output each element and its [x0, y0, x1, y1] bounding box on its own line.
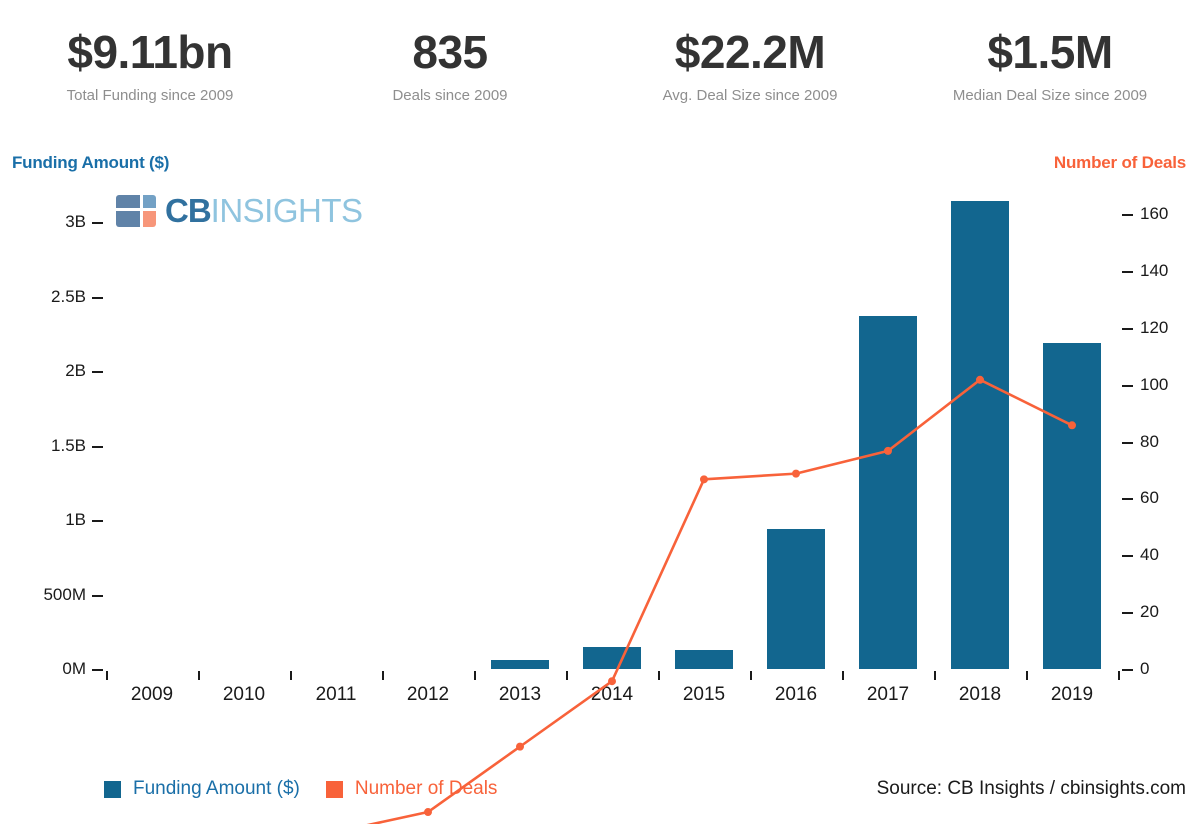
- left-axis-title: Funding Amount ($): [12, 153, 169, 173]
- left-axis-tick: [92, 669, 103, 671]
- x-axis-tick-label: 2012: [407, 684, 449, 706]
- left-axis-tick: [92, 520, 103, 522]
- right-axis-tick: [1122, 555, 1133, 557]
- x-axis-tick-label: 2015: [683, 684, 725, 706]
- right-axis-tick: [1122, 385, 1133, 387]
- x-axis-tick: [566, 671, 568, 680]
- right-axis-tick-label: 60: [1140, 488, 1159, 508]
- x-axis-tick: [934, 671, 936, 680]
- kpi-label: Median Deal Size since 2009: [900, 87, 1200, 104]
- kpi-value: 835: [300, 28, 600, 76]
- legend-item-funding[interactable]: Funding Amount ($): [104, 778, 300, 800]
- right-axis-tick: [1122, 328, 1133, 330]
- bar-2017[interactable]: [859, 316, 916, 669]
- left-axis-tick: [92, 297, 103, 299]
- left-axis-tick-label: 1B: [0, 510, 86, 530]
- kpi-avg-deal-size: $22.2M Avg. Deal Size since 2009: [600, 28, 900, 104]
- right-axis-tick: [1122, 271, 1133, 273]
- x-axis-tick-label: 2013: [499, 684, 541, 706]
- bar-2016[interactable]: [767, 529, 824, 669]
- left-axis-tick-label: 0M: [0, 659, 86, 679]
- kpi-label: Total Funding since 2009: [0, 87, 300, 104]
- left-axis-tick: [92, 446, 103, 448]
- left-axis-tick-label: 3B: [0, 212, 86, 232]
- left-axis-tick: [92, 222, 103, 224]
- chart-legend: Funding Amount ($) Number of Deals: [104, 778, 523, 800]
- kpi-value: $22.2M: [600, 28, 900, 76]
- deals-line: [152, 380, 1072, 824]
- x-axis-tick-label: 2011: [316, 684, 357, 706]
- kpi-total-funding: $9.11bn Total Funding since 2009: [0, 28, 300, 104]
- left-axis-tick-label: 1.5B: [0, 436, 86, 456]
- x-axis-tick-label: 2019: [1051, 684, 1093, 706]
- x-axis-tick-label: 2018: [959, 684, 1001, 706]
- right-axis-tick-label: 120: [1140, 318, 1168, 338]
- x-axis-tick: [198, 671, 200, 680]
- right-axis-tick-label: 40: [1140, 545, 1159, 565]
- kpi-median-deal-size: $1.5M Median Deal Size since 2009: [900, 28, 1200, 104]
- kpi-value: $1.5M: [900, 28, 1200, 76]
- x-axis-tick-label: 2017: [867, 684, 909, 706]
- bar-2019[interactable]: [1043, 343, 1100, 669]
- x-axis-tick-label: 2016: [775, 684, 817, 706]
- deals-point-2015[interactable]: [700, 475, 708, 483]
- x-axis-tick: [750, 671, 752, 680]
- legend-label: Number of Deals: [355, 778, 498, 800]
- left-axis-tick-label: 2B: [0, 361, 86, 381]
- bar-2015[interactable]: [675, 650, 732, 669]
- x-axis-tick: [290, 671, 292, 680]
- right-axis-title: Number of Deals: [1054, 153, 1186, 173]
- right-axis-tick: [1122, 669, 1133, 671]
- right-axis-tick: [1122, 498, 1133, 500]
- right-axis-tick-label: 80: [1140, 432, 1159, 452]
- legend-swatch-orange-icon: [326, 781, 343, 798]
- kpi-deals: 835 Deals since 2009: [300, 28, 600, 104]
- x-axis-tick: [842, 671, 844, 680]
- x-axis-tick-label: 2009: [131, 684, 173, 706]
- right-axis-tick-label: 140: [1140, 261, 1168, 281]
- x-axis-tick: [1118, 671, 1120, 680]
- x-axis-tick: [106, 671, 108, 680]
- bar-2013[interactable]: [491, 660, 548, 669]
- x-axis-tick-label: 2014: [591, 684, 633, 706]
- left-axis-tick: [92, 371, 103, 373]
- source-note: Source: CB Insights / cbinsights.com: [877, 778, 1186, 800]
- right-axis-tick: [1122, 612, 1133, 614]
- x-axis-tick: [1026, 671, 1028, 680]
- x-axis-tick-label: 2010: [223, 684, 265, 706]
- bar-2018[interactable]: [951, 201, 1008, 669]
- x-axis-tick: [382, 671, 384, 680]
- right-axis-tick-label: 100: [1140, 375, 1168, 395]
- x-axis-tick: [658, 671, 660, 680]
- kpi-value: $9.11bn: [0, 28, 300, 76]
- bar-2014[interactable]: [583, 647, 640, 669]
- chart-plot-area: 0M500M1B1.5B2B2.5B3B02040608010012014016…: [0, 180, 1200, 710]
- left-axis-tick-label: 2.5B: [0, 287, 86, 307]
- legend-item-deals[interactable]: Number of Deals: [326, 778, 498, 800]
- line-series-layer: [0, 180, 1200, 824]
- left-axis-tick: [92, 595, 103, 597]
- right-axis-tick-label: 20: [1140, 602, 1159, 622]
- kpi-label: Deals since 2009: [300, 87, 600, 104]
- deals-point-2013[interactable]: [516, 743, 524, 751]
- left-axis-tick-label: 500M: [0, 585, 86, 605]
- right-axis-tick-label: 160: [1140, 204, 1168, 224]
- kpi-summary-row: $9.11bn Total Funding since 2009 835 Dea…: [0, 28, 1200, 104]
- right-axis-tick: [1122, 442, 1133, 444]
- legend-swatch-blue-icon: [104, 781, 121, 798]
- right-axis-tick-label: 0: [1140, 659, 1149, 679]
- right-axis-tick: [1122, 214, 1133, 216]
- kpi-label: Avg. Deal Size since 2009: [600, 87, 900, 104]
- x-axis-tick: [474, 671, 476, 680]
- deals-point-2012[interactable]: [424, 808, 432, 816]
- legend-label: Funding Amount ($): [133, 778, 300, 800]
- chart-page: $9.11bn Total Funding since 2009 835 Dea…: [0, 0, 1200, 824]
- deals-point-2016[interactable]: [792, 470, 800, 478]
